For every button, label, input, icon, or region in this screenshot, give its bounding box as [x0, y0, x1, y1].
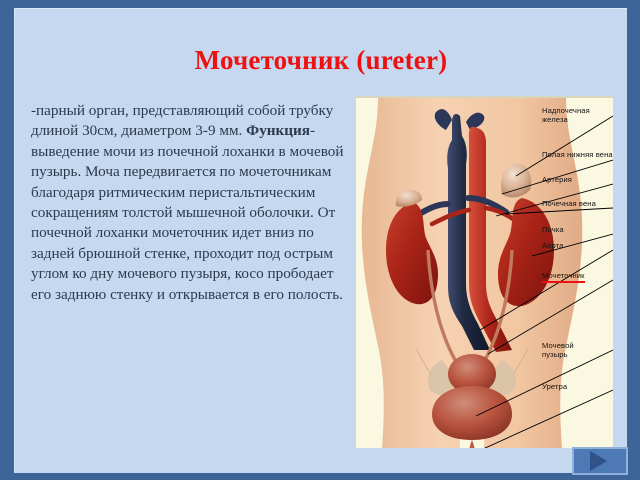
function-label: Функция	[246, 122, 310, 139]
figure-label-kidney: Почка	[542, 225, 564, 234]
body-rest: - выведение мочи из почечной лоханки в м…	[31, 122, 343, 302]
next-slide-button[interactable]	[572, 447, 628, 475]
slide: Мочеточник (ureter) -парный орган, предс…	[0, 0, 640, 480]
play-triangle-icon	[590, 451, 607, 471]
slide-panel: Мочеточник (ureter) -парный орган, предс…	[14, 8, 627, 473]
urethra	[469, 440, 475, 448]
figure-label-urinary-bladder: Мочевой пузырь	[542, 341, 574, 360]
body-text: -парный орган, представляющий собой труб…	[31, 101, 347, 305]
figure-label-renal-vein: Почечная вена	[542, 199, 596, 208]
figure-label-urethra: Уретра	[542, 382, 567, 391]
figure-label-ureter: Мочеточник	[542, 271, 585, 283]
anatomy-figure: Надпочечная железа Полая нижняя вена Арт…	[356, 96, 613, 448]
page-title: Мочеточник (ureter)	[35, 45, 607, 76]
figure-label-aorta: Аорта	[542, 241, 563, 250]
figure-label-artery: Артерия	[542, 175, 572, 184]
figure-label-adrenal-gland: Надпочечная железа	[542, 106, 590, 125]
urinary-bladder	[432, 386, 512, 440]
figure-label-inferior-vena-cava: Полая нижняя вена	[542, 150, 613, 159]
